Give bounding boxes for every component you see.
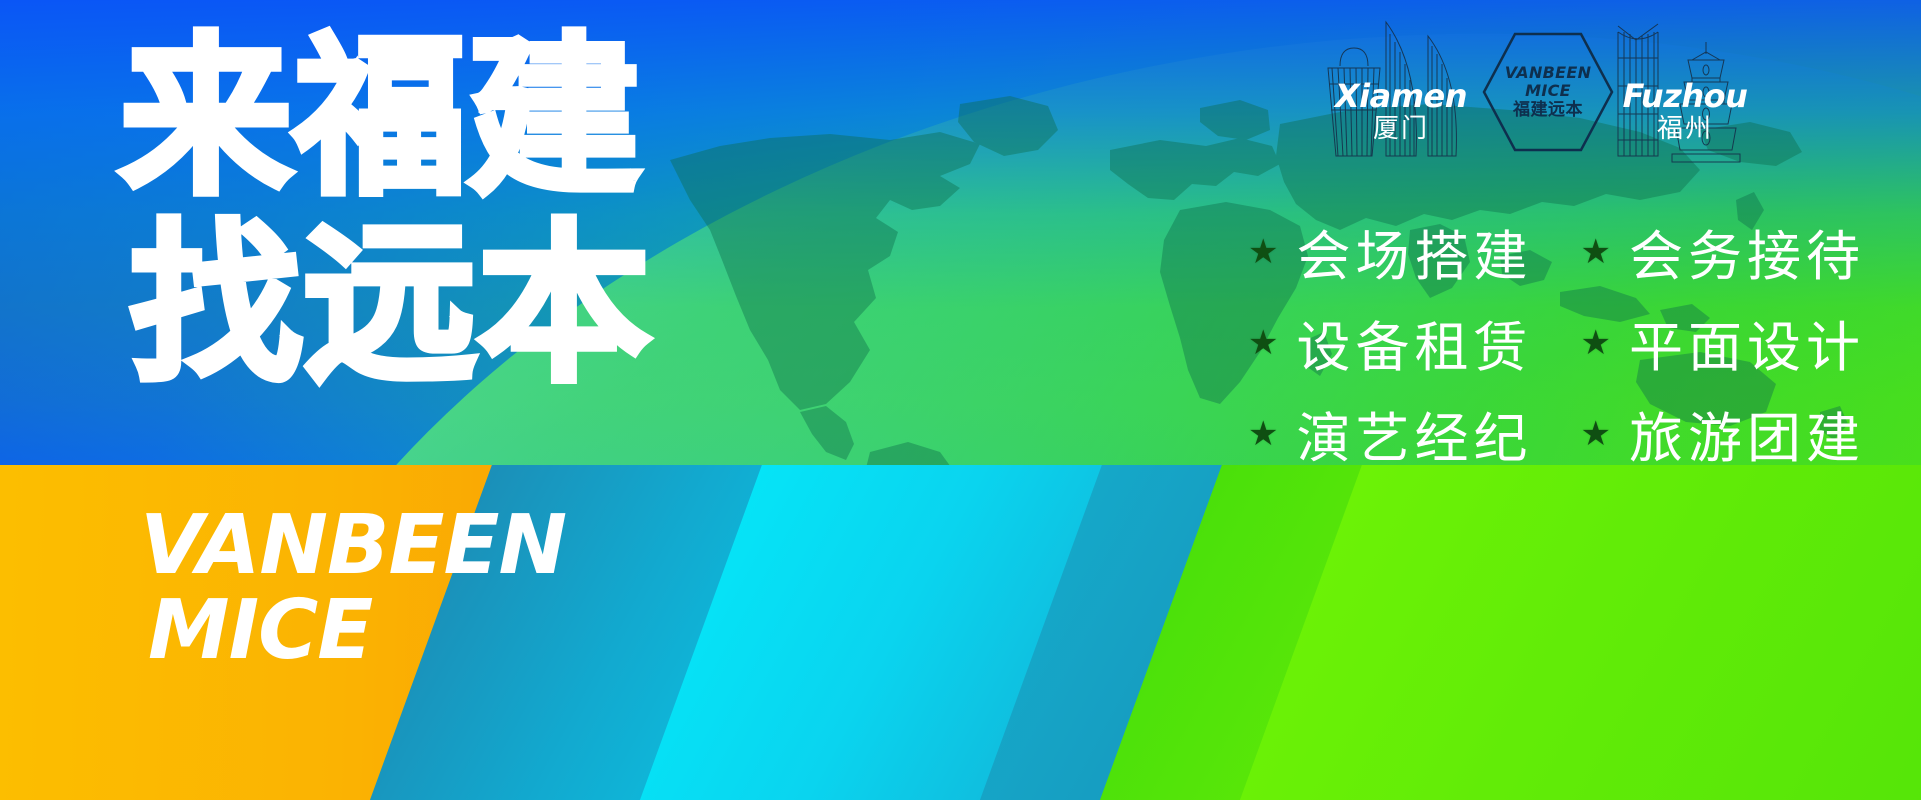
vanbeen-mice-wordmark: VANBEEN MICE (140, 507, 566, 670)
badge-line-3: 福建远本 (1513, 101, 1583, 120)
service-label: 会务接待 (1629, 212, 1865, 291)
city-name-cn: 福州 (1590, 116, 1780, 142)
service-label: 设备租赁 (1297, 303, 1533, 382)
vanbeen-hexagon-badge: VANBEEN MICE 福建远本 (1482, 30, 1614, 154)
star-icon: ★ (1581, 235, 1611, 269)
city-logo-bar: VANBEEN MICE 福建远本 Xiamen 厦门 Fuzhou 福州 (1318, 6, 1778, 176)
star-icon: ★ (1581, 326, 1611, 360)
service-item-6: ★ 旅游团建 (1581, 394, 1865, 465)
star-icon: ★ (1581, 417, 1611, 451)
star-icon: ★ (1248, 235, 1278, 269)
service-item-4: ★ 平面设计 (1581, 303, 1865, 382)
city-name-en: Fuzhou (1590, 80, 1780, 112)
service-item-3: ★ 设备租赁 (1248, 303, 1532, 382)
service-item-2: ★ 会务接待 (1581, 212, 1865, 291)
wordmark-line-2: MICE (148, 592, 566, 671)
service-item-5: ★ 演艺经纪 (1248, 394, 1532, 465)
star-icon: ★ (1248, 417, 1278, 451)
badge-line-1: VANBEEN (1505, 64, 1592, 82)
promotional-banner: 来福建 找远本 ★ 会场搭建 ★ 会务接待 ★ 设备租赁 ★ 平面设计 ★ (0, 0, 1921, 800)
service-label: 旅游团建 (1629, 394, 1865, 465)
main-panel: 来福建 找远本 ★ 会场搭建 ★ 会务接待 ★ 设备租赁 ★ 平面设计 ★ (0, 0, 1921, 465)
star-icon: ★ (1248, 326, 1278, 360)
service-label: 会场搭建 (1297, 212, 1533, 291)
page-title: 来福建 找远本 (120, 34, 652, 389)
city-name-cn: 厦门 (1306, 116, 1496, 142)
services-list: ★ 会场搭建 ★ 会务接待 ★ 设备租赁 ★ 平面设计 ★ 演艺经纪 ★ 旅游团… (1248, 212, 1865, 465)
city-label-xiamen: Xiamen 厦门 (1306, 80, 1496, 142)
city-name-en: Xiamen (1306, 80, 1496, 112)
service-label: 平面设计 (1629, 303, 1865, 382)
headline-line-1: 来福建 (120, 34, 652, 203)
city-label-fuzhou: Fuzhou 福州 (1590, 80, 1780, 142)
service-item-1: ★ 会场搭建 (1248, 212, 1532, 291)
service-label: 演艺经纪 (1297, 394, 1533, 465)
headline-line-2: 找远本 (130, 221, 652, 390)
wordmark-line-1: VANBEEN (140, 507, 566, 586)
badge-line-2: MICE (1525, 82, 1571, 100)
bottom-brand-bar: VANBEEN MICE (0, 465, 1921, 800)
